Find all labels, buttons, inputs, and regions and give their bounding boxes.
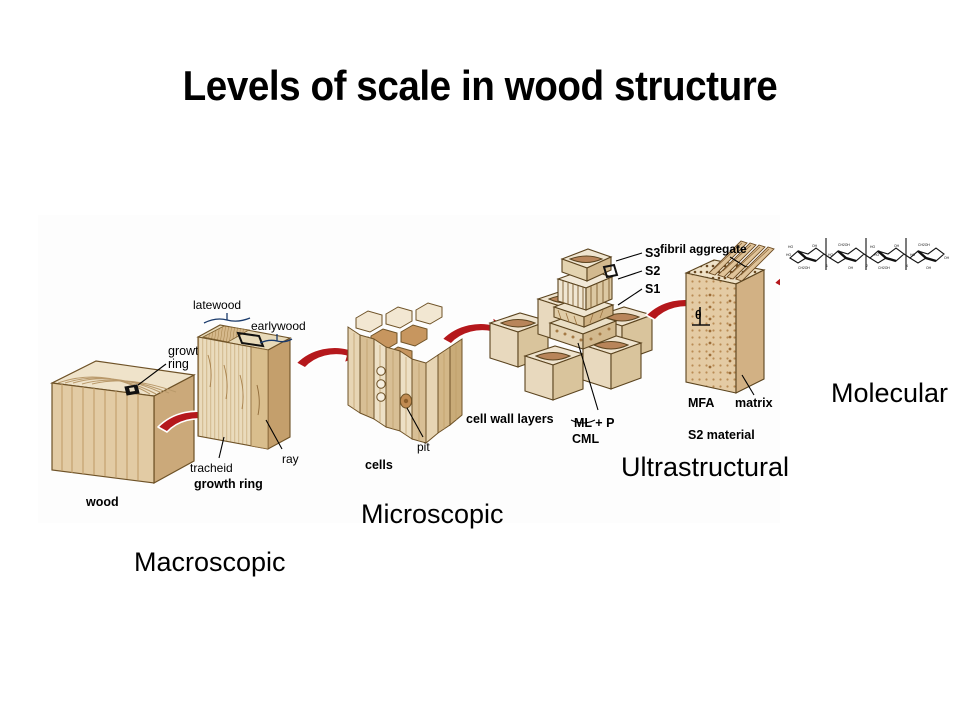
annotation-theta-angle: θ: [695, 308, 702, 322]
annotation-pit: pit: [417, 440, 430, 454]
svg-text:HO: HO: [910, 253, 915, 257]
svg-text:2: 2: [866, 264, 868, 268]
caption-cells: cells: [365, 458, 393, 472]
svg-text:1: 1: [826, 264, 828, 268]
svg-text:HO: HO: [874, 253, 879, 257]
svg-text:HO: HO: [788, 245, 793, 249]
s2-leader: [618, 271, 642, 279]
svg-text:CH2OH: CH2OH: [918, 243, 930, 247]
svg-text:CH2OH: CH2OH: [838, 243, 850, 247]
annotation-matrix: matrix: [735, 396, 773, 410]
scale-label-microscopic: Microscopic: [361, 499, 504, 530]
annotation-cml: CML: [572, 432, 599, 446]
s2-slab-side: [736, 270, 764, 393]
s3-leader: [616, 253, 642, 261]
svg-text:OH: OH: [926, 266, 932, 270]
svg-text:OH: OH: [894, 244, 900, 248]
panel-wood: growth ring wood: [52, 344, 206, 509]
svg-text:OH: OH: [812, 244, 818, 248]
scale-label-ultrastructural: Ultrastructural: [621, 452, 789, 483]
scale-label-molecular: Molecular: [831, 378, 948, 409]
caption-s2-material: S2 material: [688, 428, 755, 442]
caption-cell-wall-layers: cell wall layers: [466, 412, 554, 426]
annotation-latewood: latewood: [193, 298, 241, 312]
caption-wood: wood: [85, 495, 119, 509]
panel-s2-material: θ fibril aggregate MFA matrix S2 materia…: [660, 241, 774, 442]
panel-growth-ring: latewood earlywood tracheid ray growth r…: [190, 298, 306, 491]
svg-text:HO: HO: [828, 253, 833, 257]
cells-front-walls: [348, 327, 462, 443]
arrow-5: [774, 261, 780, 288]
s1-leader: [618, 289, 642, 305]
caption-growth-ring: growth ring: [194, 477, 263, 491]
annotation-fibril-aggregate: fibril aggregate: [660, 242, 747, 256]
cell-wall-layer-stack: [550, 249, 617, 349]
svg-text:CH2OH: CH2OH: [798, 266, 810, 270]
scale-label-macroscopic: Macroscopic: [134, 547, 286, 578]
annotation-s2: S2: [645, 264, 660, 278]
panel-cell-wall-layers: S3 S2 S1 ML + P CML cell wall layers: [466, 246, 660, 446]
svg-text:OH: OH: [944, 256, 950, 260]
annotation-ray: ray: [282, 452, 299, 466]
wood-specimen-marker-hole: [129, 387, 135, 391]
panel-cells: pit cells: [348, 303, 462, 472]
svg-text:CH2OH: CH2OH: [878, 266, 890, 270]
s2-slab-front: [686, 273, 736, 393]
page-title: Levels of scale in wood structure: [38, 62, 921, 110]
wood-cube-front: [52, 383, 154, 483]
svg-text:HO: HO: [870, 245, 875, 249]
growth-ring-side: [268, 338, 290, 449]
annotation-earlywood: earlywood: [251, 319, 306, 333]
annotation-growth-ring-line2: ring: [168, 357, 189, 371]
svg-text:4: 4: [906, 264, 908, 268]
panel-cellulose-molecule: HOHOCH2OH OH HOCH2OHOH HOHOCH2OH OH HOCH…: [786, 234, 954, 280]
annotation-s1: S1: [645, 282, 660, 296]
svg-text:HO: HO: [786, 253, 791, 257]
annotation-s3: S3: [645, 246, 660, 260]
svg-text:OH: OH: [848, 266, 854, 270]
annotation-mfa: MFA: [688, 396, 714, 410]
annotation-tracheid: tracheid: [190, 461, 233, 475]
